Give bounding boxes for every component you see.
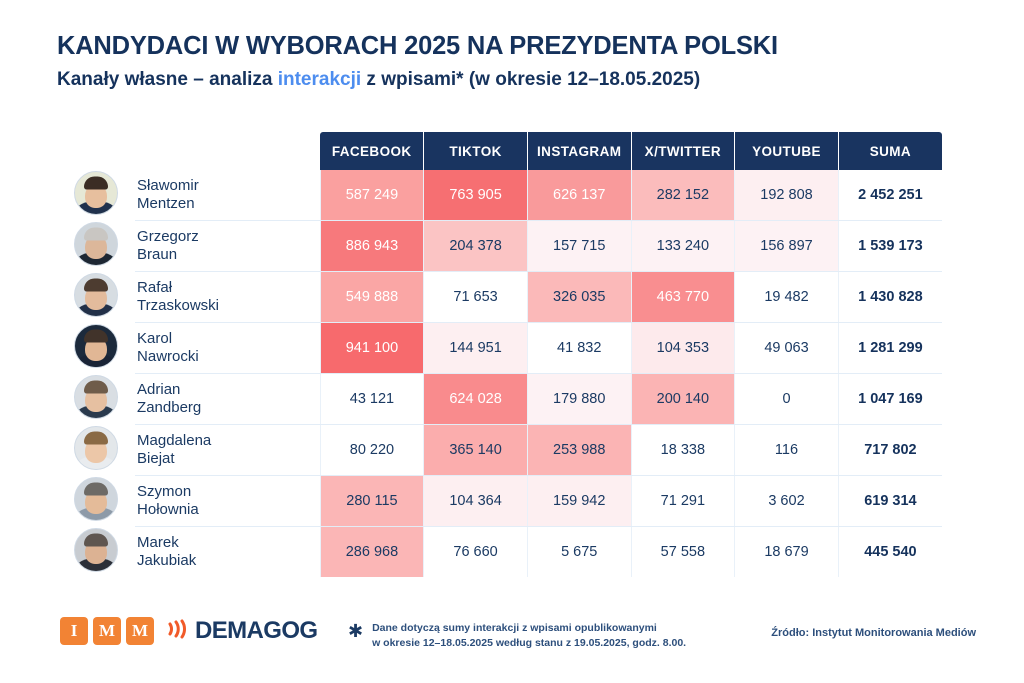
candidate-first-name: Karol bbox=[137, 330, 320, 348]
avatar-hair-shape bbox=[84, 329, 108, 342]
table-row: MagdalenaBiejat80 220365 140253 98818 33… bbox=[57, 425, 942, 476]
avatar-cell bbox=[57, 476, 135, 527]
value-cell-youtube[interactable]: 18 679 bbox=[735, 527, 839, 578]
candidate-first-name: Adrian bbox=[137, 381, 320, 399]
candidate-first-name: Sławomir bbox=[137, 177, 320, 195]
table-row: SzymonHołownia280 115104 364159 94271 29… bbox=[57, 476, 942, 527]
avatar-hair-shape bbox=[84, 278, 108, 291]
candidate-name[interactable]: SławomirMentzen bbox=[135, 170, 320, 221]
candidate-first-name: Marek bbox=[137, 534, 320, 552]
value-cell-youtube[interactable]: 116 bbox=[735, 425, 839, 476]
candidate-name[interactable]: GrzegorzBraun bbox=[135, 221, 320, 272]
table-row: GrzegorzBraun886 943204 378157 715133 24… bbox=[57, 221, 942, 272]
subtitle-text-before: Kanały własne – analiza bbox=[57, 69, 278, 90]
candidate-first-name: Grzegorz bbox=[137, 228, 320, 246]
table-header-row: FACEBOOKTIKTOKINSTAGRAMX/TWITTERYOUTUBES… bbox=[57, 132, 942, 170]
value-cell-youtube[interactable]: 49 063 bbox=[735, 323, 839, 374]
avatar-hair-shape bbox=[84, 533, 108, 546]
candidate-first-name: Szymon bbox=[137, 483, 320, 501]
table-row: SławomirMentzen587 249763 905626 137282 … bbox=[57, 170, 942, 221]
subtitle-text-after: z wpisami* (w okresie 12–18.05.2025) bbox=[361, 69, 700, 90]
value-cell-facebook[interactable]: 80 220 bbox=[320, 425, 424, 476]
value-cell-instagram[interactable]: 326 035 bbox=[527, 272, 631, 323]
avatar bbox=[74, 222, 118, 266]
candidate-first-name: Magdalena bbox=[137, 432, 320, 450]
avatar-cell bbox=[57, 527, 135, 578]
value-cell-facebook[interactable]: 280 115 bbox=[320, 476, 424, 527]
candidate-last-name: Nawrocki bbox=[137, 348, 320, 366]
candidate-last-name: Trzaskowski bbox=[137, 297, 320, 315]
value-cell-facebook[interactable]: 286 968 bbox=[320, 527, 424, 578]
footnote-line-1: Dane dotyczą sumy interakcji z wpisami o… bbox=[372, 622, 657, 634]
value-cell-instagram[interactable]: 41 832 bbox=[527, 323, 631, 374]
candidate-last-name: Braun bbox=[137, 246, 320, 264]
avatar-cell bbox=[57, 374, 135, 425]
value-cell-facebook[interactable]: 587 249 bbox=[320, 170, 424, 221]
table-row: AdrianZandberg43 121624 028179 880200 14… bbox=[57, 374, 942, 425]
value-cell-facebook[interactable]: 886 943 bbox=[320, 221, 424, 272]
value-cell-x-twitter[interactable]: 133 240 bbox=[631, 221, 735, 272]
header: KANDYDACI W WYBORACH 2025 NA PREZYDENTA … bbox=[57, 32, 977, 91]
subtitle-highlight: interakcji bbox=[278, 69, 361, 90]
table-row: MarekJakubiak286 96876 6605 67557 55818 … bbox=[57, 527, 942, 578]
page-title: KANDYDACI W WYBORACH 2025 NA PREZYDENTA … bbox=[57, 32, 977, 60]
interactions-heatmap-table: FACEBOOKTIKTOKINSTAGRAMX/TWITTERYOUTUBES… bbox=[57, 132, 942, 577]
value-cell-suma[interactable]: 1 281 299 bbox=[838, 323, 942, 374]
table-body: SławomirMentzen587 249763 905626 137282 … bbox=[57, 170, 942, 577]
table-header: FACEBOOKTIKTOKINSTAGRAMX/TWITTERYOUTUBES… bbox=[57, 132, 942, 170]
avatar bbox=[74, 324, 118, 368]
avatar-hair-shape bbox=[84, 227, 108, 240]
footnote-line-2: w okresie 12–18.05.2025 według stanu z 1… bbox=[372, 637, 686, 649]
value-cell-tiktok[interactable]: 76 660 bbox=[424, 527, 528, 578]
avatar bbox=[74, 171, 118, 215]
value-cell-tiktok[interactable]: 624 028 bbox=[424, 374, 528, 425]
page-subtitle: Kanały własne – analiza interakcji z wpi… bbox=[57, 69, 977, 91]
avatar-cell bbox=[57, 272, 135, 323]
value-cell-x-twitter[interactable]: 71 291 bbox=[631, 476, 735, 527]
table-row: KarolNawrocki941 100144 95141 832104 353… bbox=[57, 323, 942, 374]
value-cell-youtube[interactable]: 0 bbox=[735, 374, 839, 425]
value-cell-suma[interactable]: 1 047 169 bbox=[838, 374, 942, 425]
value-cell-x-twitter[interactable]: 200 140 bbox=[631, 374, 735, 425]
value-cell-tiktok[interactable]: 144 951 bbox=[424, 323, 528, 374]
candidate-last-name: Mentzen bbox=[137, 195, 320, 213]
value-cell-instagram[interactable]: 253 988 bbox=[527, 425, 631, 476]
avatar-cell bbox=[57, 170, 135, 221]
candidate-last-name: Zandberg bbox=[137, 399, 320, 417]
value-cell-youtube[interactable]: 156 897 bbox=[735, 221, 839, 272]
value-cell-tiktok[interactable]: 763 905 bbox=[424, 170, 528, 221]
value-cell-suma[interactable]: 445 540 bbox=[838, 527, 942, 578]
candidate-name[interactable]: SzymonHołownia bbox=[135, 476, 320, 527]
imm-letter-2: M bbox=[93, 617, 121, 645]
value-cell-tiktok[interactable]: 104 364 bbox=[424, 476, 528, 527]
value-cell-tiktok[interactable]: 204 378 bbox=[424, 221, 528, 272]
value-cell-youtube[interactable]: 19 482 bbox=[735, 272, 839, 323]
column-header-youtube[interactable]: YOUTUBE bbox=[735, 132, 839, 170]
value-cell-instagram[interactable]: 159 942 bbox=[527, 476, 631, 527]
asterisk-icon: ✱ bbox=[348, 622, 363, 640]
value-cell-x-twitter[interactable]: 104 353 bbox=[631, 323, 735, 374]
value-cell-tiktok[interactable]: 365 140 bbox=[424, 425, 528, 476]
footnote: ✱ Dane dotyczą sumy interakcji z wpisami… bbox=[348, 621, 686, 651]
avatar-hair-shape bbox=[84, 177, 108, 190]
avatar-cell bbox=[57, 221, 135, 272]
column-header-x-twitter[interactable]: X/TWITTER bbox=[631, 132, 735, 170]
avatar bbox=[74, 273, 118, 317]
candidate-name[interactable]: AdrianZandberg bbox=[135, 374, 320, 425]
candidate-last-name: Jakubiak bbox=[137, 552, 320, 570]
value-cell-suma[interactable]: 619 314 bbox=[838, 476, 942, 527]
avatar bbox=[74, 528, 118, 572]
imm-logo: IMM bbox=[60, 617, 154, 645]
column-header-suma[interactable]: SUMA bbox=[838, 132, 942, 170]
footnote-text: Dane dotyczą sumy interakcji z wpisami o… bbox=[372, 621, 686, 651]
column-header-tiktok[interactable]: TIKTOK bbox=[424, 132, 528, 170]
value-cell-tiktok[interactable]: 71 653 bbox=[424, 272, 528, 323]
value-cell-instagram[interactable]: 626 137 bbox=[527, 170, 631, 221]
value-cell-instagram[interactable]: 179 880 bbox=[527, 374, 631, 425]
candidate-name[interactable]: MarekJakubiak bbox=[135, 527, 320, 578]
data-table: FACEBOOKTIKTOKINSTAGRAMX/TWITTERYOUTUBES… bbox=[57, 132, 942, 577]
imm-letter-1: I bbox=[60, 617, 88, 645]
avatar bbox=[74, 477, 118, 521]
value-cell-suma[interactable]: 1 539 173 bbox=[838, 221, 942, 272]
value-cell-suma[interactable]: 2 452 251 bbox=[838, 170, 942, 221]
candidate-first-name: Rafał bbox=[137, 279, 320, 297]
soundwave-icon bbox=[166, 618, 192, 645]
value-cell-youtube[interactable]: 3 602 bbox=[735, 476, 839, 527]
candidate-last-name: Hołownia bbox=[137, 501, 320, 519]
value-cell-suma[interactable]: 1 430 828 bbox=[838, 272, 942, 323]
avatar bbox=[74, 426, 118, 470]
avatar-cell bbox=[57, 425, 135, 476]
header-avatar-spacer bbox=[57, 132, 135, 170]
footer: IMM DEMAGOG ✱ Dane dotyczą sumy interakc… bbox=[0, 605, 1024, 683]
demagog-wordmark: DEMAGOG bbox=[195, 617, 317, 645]
header-name-spacer bbox=[135, 132, 320, 170]
value-cell-facebook[interactable]: 43 121 bbox=[320, 374, 424, 425]
avatar-cell bbox=[57, 323, 135, 374]
value-cell-instagram[interactable]: 5 675 bbox=[527, 527, 631, 578]
candidate-name[interactable]: KarolNawrocki bbox=[135, 323, 320, 374]
value-cell-x-twitter[interactable]: 282 152 bbox=[631, 170, 735, 221]
candidate-name[interactable]: RafałTrzaskowski bbox=[135, 272, 320, 323]
value-cell-facebook[interactable]: 941 100 bbox=[320, 323, 424, 374]
value-cell-x-twitter[interactable]: 57 558 bbox=[631, 527, 735, 578]
value-cell-x-twitter[interactable]: 463 770 bbox=[631, 272, 735, 323]
avatar-hair-shape bbox=[84, 482, 108, 495]
table-row: RafałTrzaskowski549 88871 653326 035463 … bbox=[57, 272, 942, 323]
value-cell-suma[interactable]: 717 802 bbox=[838, 425, 942, 476]
avatar-hair-shape bbox=[84, 380, 108, 393]
candidate-name[interactable]: MagdalenaBiejat bbox=[135, 425, 320, 476]
column-header-facebook[interactable]: FACEBOOK bbox=[320, 132, 424, 170]
column-header-instagram[interactable]: INSTAGRAM bbox=[527, 132, 631, 170]
value-cell-instagram[interactable]: 157 715 bbox=[527, 221, 631, 272]
source-credit: Źródło: Instytut Monitorowania Mediów bbox=[771, 627, 976, 639]
imm-letter-3: M bbox=[126, 617, 154, 645]
value-cell-x-twitter[interactable]: 18 338 bbox=[631, 425, 735, 476]
value-cell-youtube[interactable]: 192 808 bbox=[735, 170, 839, 221]
demagog-logo: DEMAGOG bbox=[166, 617, 317, 645]
value-cell-facebook[interactable]: 549 888 bbox=[320, 272, 424, 323]
avatar bbox=[74, 375, 118, 419]
avatar-hair-shape bbox=[84, 431, 108, 444]
candidate-last-name: Biejat bbox=[137, 450, 320, 468]
